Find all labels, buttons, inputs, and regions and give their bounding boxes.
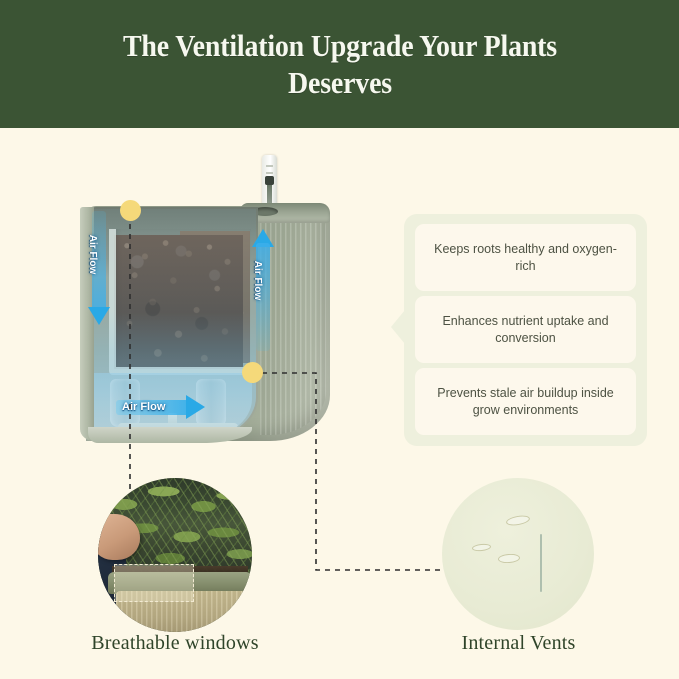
vent-slot bbox=[505, 514, 530, 527]
breathable-window-highlight bbox=[114, 564, 194, 602]
air-flow-right-label: Air Flow bbox=[252, 261, 263, 300]
vent-slot bbox=[472, 543, 492, 552]
arrow-down-icon bbox=[88, 307, 110, 325]
air-flow-left-indicator: Air Flow bbox=[88, 211, 110, 331]
vent-slot bbox=[498, 553, 521, 564]
infographic-page: The Ventilation Upgrade Your Plants Dese… bbox=[0, 0, 679, 679]
product-cutaway-illustration: Air Flow Air Flow Air Flow bbox=[80, 155, 335, 455]
feature-internal-vents bbox=[442, 478, 594, 630]
breathable-windows-photo bbox=[98, 478, 252, 632]
benefits-panel-pointer-icon bbox=[391, 310, 405, 344]
vent-seam-line bbox=[540, 534, 542, 592]
page-title: The Ventilation Upgrade Your Plants Dese… bbox=[88, 27, 592, 101]
internal-vents-photo bbox=[442, 478, 594, 630]
benefit-card-1-text: Keeps roots healthy and oxygen-rich bbox=[427, 241, 624, 275]
air-flow-bottom-label: Air Flow bbox=[122, 401, 165, 413]
benefits-panel: Keeps roots healthy and oxygen-rich Enha… bbox=[404, 214, 647, 446]
air-flow-right-indicator: Air Flow bbox=[252, 229, 274, 351]
benefit-card-2: Enhances nutrient uptake and conversion bbox=[415, 296, 636, 363]
benefit-card-1: Keeps roots healthy and oxygen-rich bbox=[415, 224, 636, 291]
water-gauge-mark bbox=[266, 172, 273, 174]
callout-dot-internal-vents bbox=[242, 362, 263, 383]
header-banner: The Ventilation Upgrade Your Plants Dese… bbox=[0, 0, 679, 128]
planter-base-foot bbox=[88, 427, 252, 443]
feature-label-breathable-windows: Breathable windows bbox=[45, 632, 305, 655]
benefit-card-3: Prevents stale air buildup inside grow e… bbox=[415, 368, 636, 435]
benefit-card-3-text: Prevents stale air buildup inside grow e… bbox=[427, 385, 624, 419]
water-level-indicator-cap bbox=[265, 176, 274, 185]
air-flow-bottom-indicator: Air Flow bbox=[116, 395, 226, 419]
feature-breathable-windows bbox=[98, 478, 252, 632]
callout-dot-breathable-windows bbox=[120, 200, 141, 221]
benefit-card-2-text: Enhances nutrient uptake and conversion bbox=[427, 313, 624, 347]
feature-label-internal-vents: Internal Vents bbox=[396, 632, 641, 655]
arrow-right-icon bbox=[186, 395, 205, 419]
water-gauge-mark bbox=[266, 165, 273, 167]
air-flow-left-label: Air Flow bbox=[87, 235, 98, 274]
